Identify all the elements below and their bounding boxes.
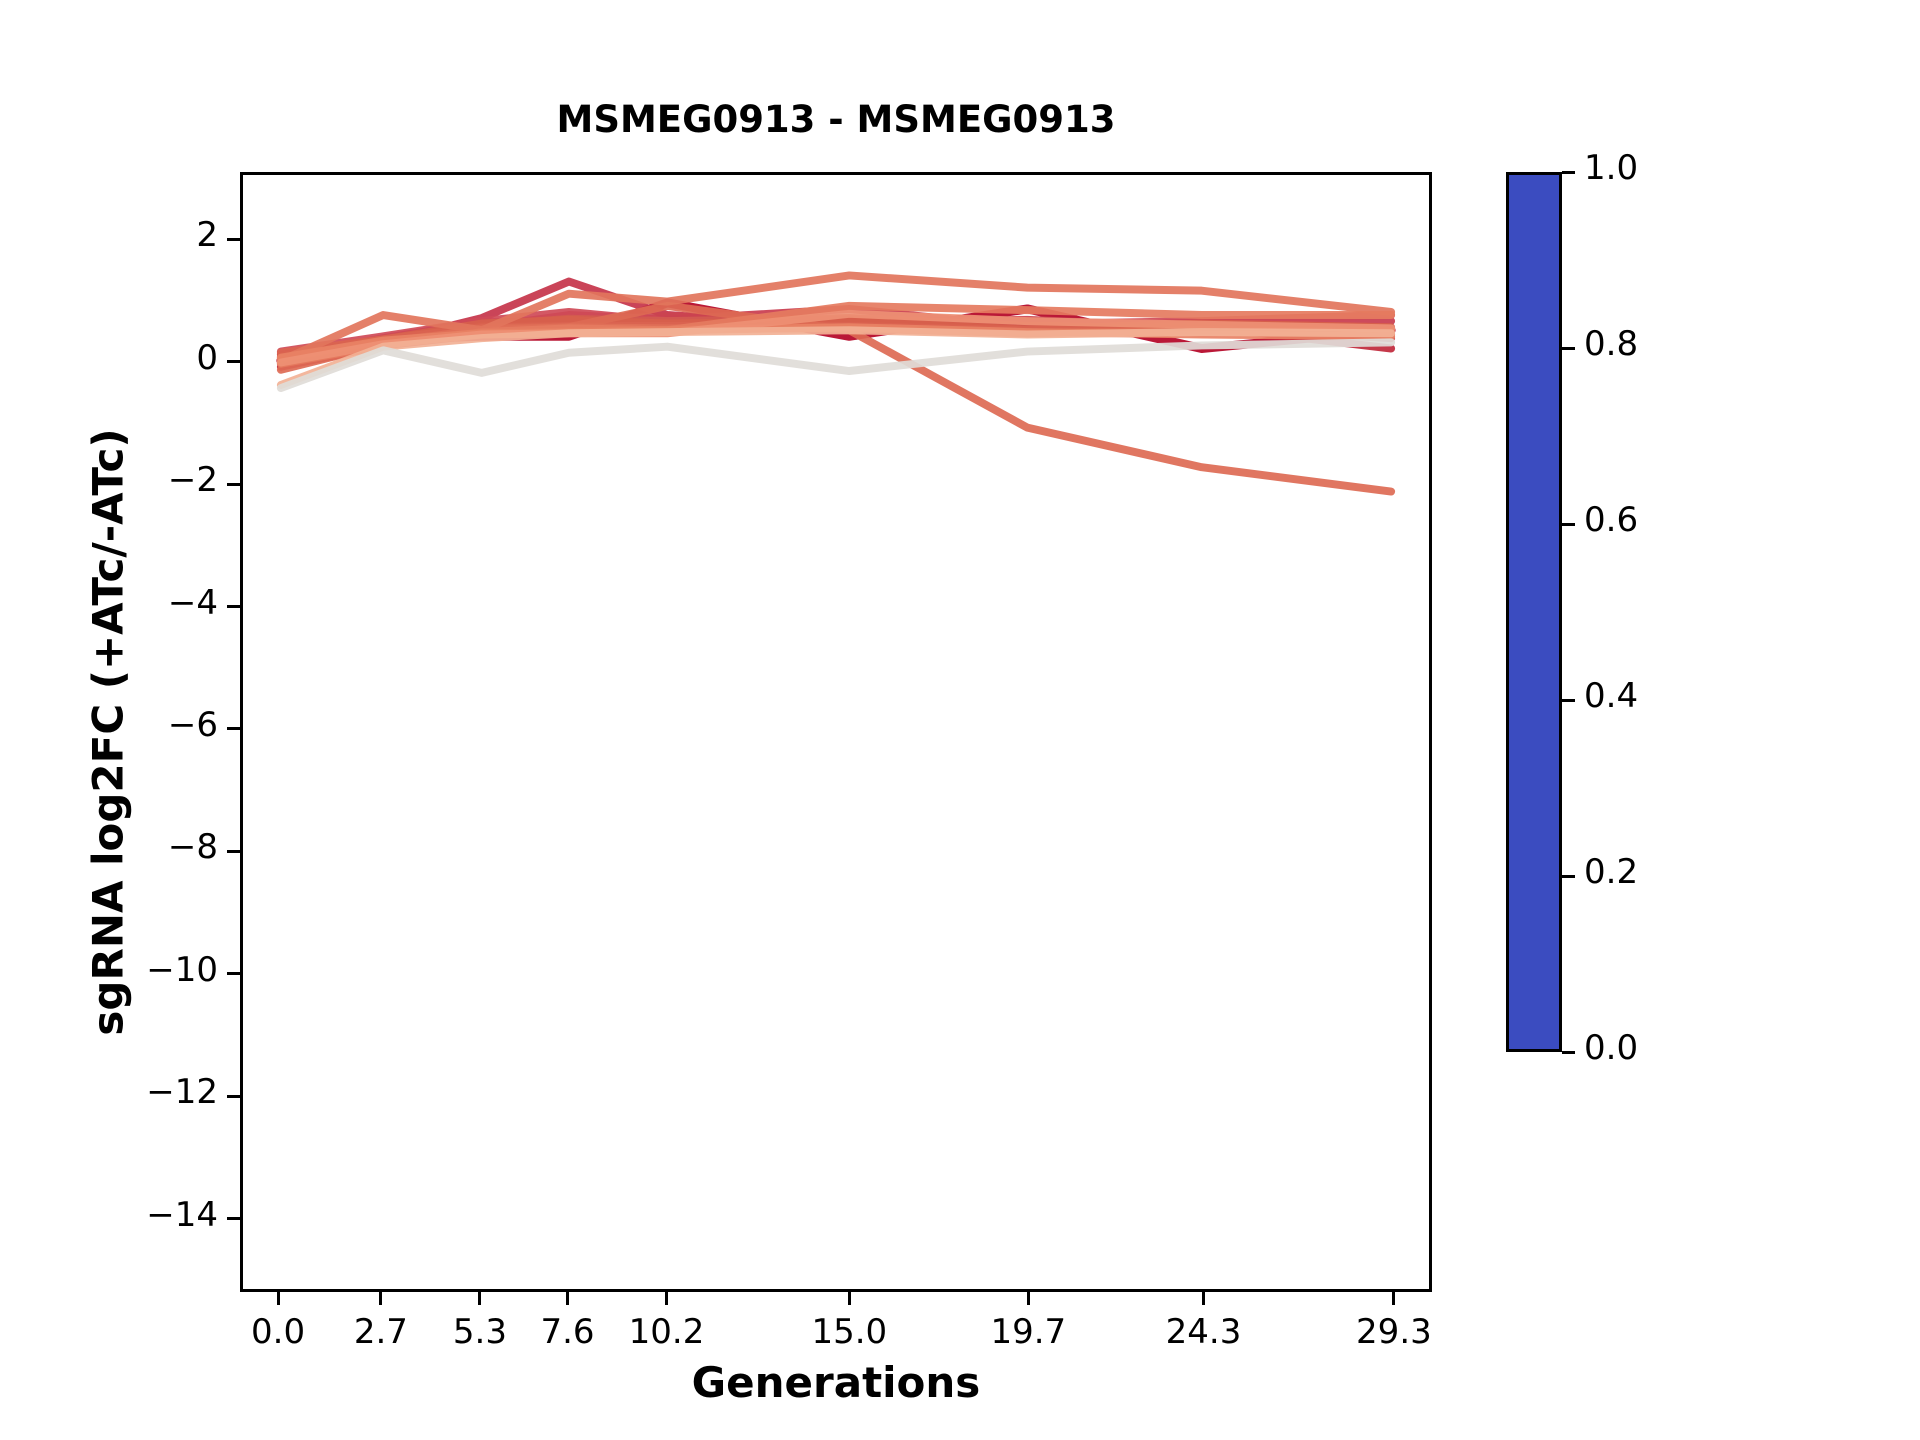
y-tick-label: −6 (168, 705, 218, 745)
y-tick-label: 0 (196, 338, 218, 378)
colorbar-tick-label: 0.4 (1584, 676, 1638, 716)
y-tick-label: −8 (168, 827, 218, 867)
x-tick-label: 5.3 (453, 1312, 507, 1352)
x-tick-mark (379, 1292, 382, 1305)
plot-area (240, 172, 1432, 1292)
x-tick-mark (1202, 1292, 1205, 1305)
x-tick-label: 0.0 (251, 1312, 305, 1352)
y-tick-mark (227, 972, 240, 975)
y-tick-mark (227, 1095, 240, 1098)
x-tick-mark (478, 1292, 481, 1305)
y-tick-label: −14 (146, 1195, 218, 1235)
y-axis-label: sgRNA log2FC (+ATc/-ATc) (84, 428, 133, 1035)
colorbar-tick-mark (1562, 699, 1575, 702)
colorbar-tick-label: 1.0 (1584, 148, 1638, 188)
figure-canvas: MSMEG0913 - MSMEG0913 sgRNA log2FC (+ATc… (0, 0, 1920, 1440)
colorbar-tick-mark (1562, 347, 1575, 350)
y-tick-label: −12 (146, 1072, 218, 1112)
x-tick-label: 10.2 (629, 1312, 705, 1352)
colorbar-tick-label: 0.6 (1584, 500, 1638, 540)
y-tick-mark (227, 238, 240, 241)
x-tick-label: 19.7 (990, 1312, 1066, 1352)
y-tick-mark (227, 727, 240, 730)
y-tick-label: −2 (168, 460, 218, 500)
x-tick-mark (665, 1292, 668, 1305)
x-axis-label: Generations (240, 1358, 1432, 1407)
y-tick-mark (227, 850, 240, 853)
y-tick-mark (227, 483, 240, 486)
colorbar-gradient (1509, 175, 1559, 1049)
x-tick-mark (277, 1292, 280, 1305)
colorbar (1506, 172, 1562, 1052)
x-tick-label: 15.0 (811, 1312, 887, 1352)
y-tick-mark (227, 1217, 240, 1220)
x-tick-mark (566, 1292, 569, 1305)
y-tick-label: 2 (196, 215, 218, 255)
x-tick-label: 2.7 (354, 1312, 408, 1352)
y-tick-label: −4 (168, 583, 218, 623)
x-tick-mark (1392, 1292, 1395, 1305)
colorbar-tick-label: 0.2 (1584, 852, 1638, 892)
x-tick-label: 24.3 (1166, 1312, 1242, 1352)
x-tick-label: 29.3 (1356, 1312, 1432, 1352)
y-tick-label: −10 (146, 950, 218, 990)
y-tick-mark (227, 360, 240, 363)
line-series-group (243, 175, 1429, 1289)
colorbar-tick-mark (1562, 875, 1575, 878)
colorbar-tick-mark (1562, 1051, 1575, 1054)
colorbar-tick-label: 0.8 (1584, 324, 1638, 364)
x-tick-label: 7.6 (540, 1312, 594, 1352)
x-tick-mark (848, 1292, 851, 1305)
y-axis-label-container: sgRNA log2FC (+ATc/-ATc) (78, 172, 138, 1292)
colorbar-tick-mark (1562, 171, 1575, 174)
colorbar-tick-label: 0.0 (1584, 1028, 1638, 1068)
y-tick-mark (227, 605, 240, 608)
page-title: MSMEG0913 - MSMEG0913 (240, 98, 1432, 141)
x-tick-mark (1027, 1292, 1030, 1305)
colorbar-tick-mark (1562, 523, 1575, 526)
